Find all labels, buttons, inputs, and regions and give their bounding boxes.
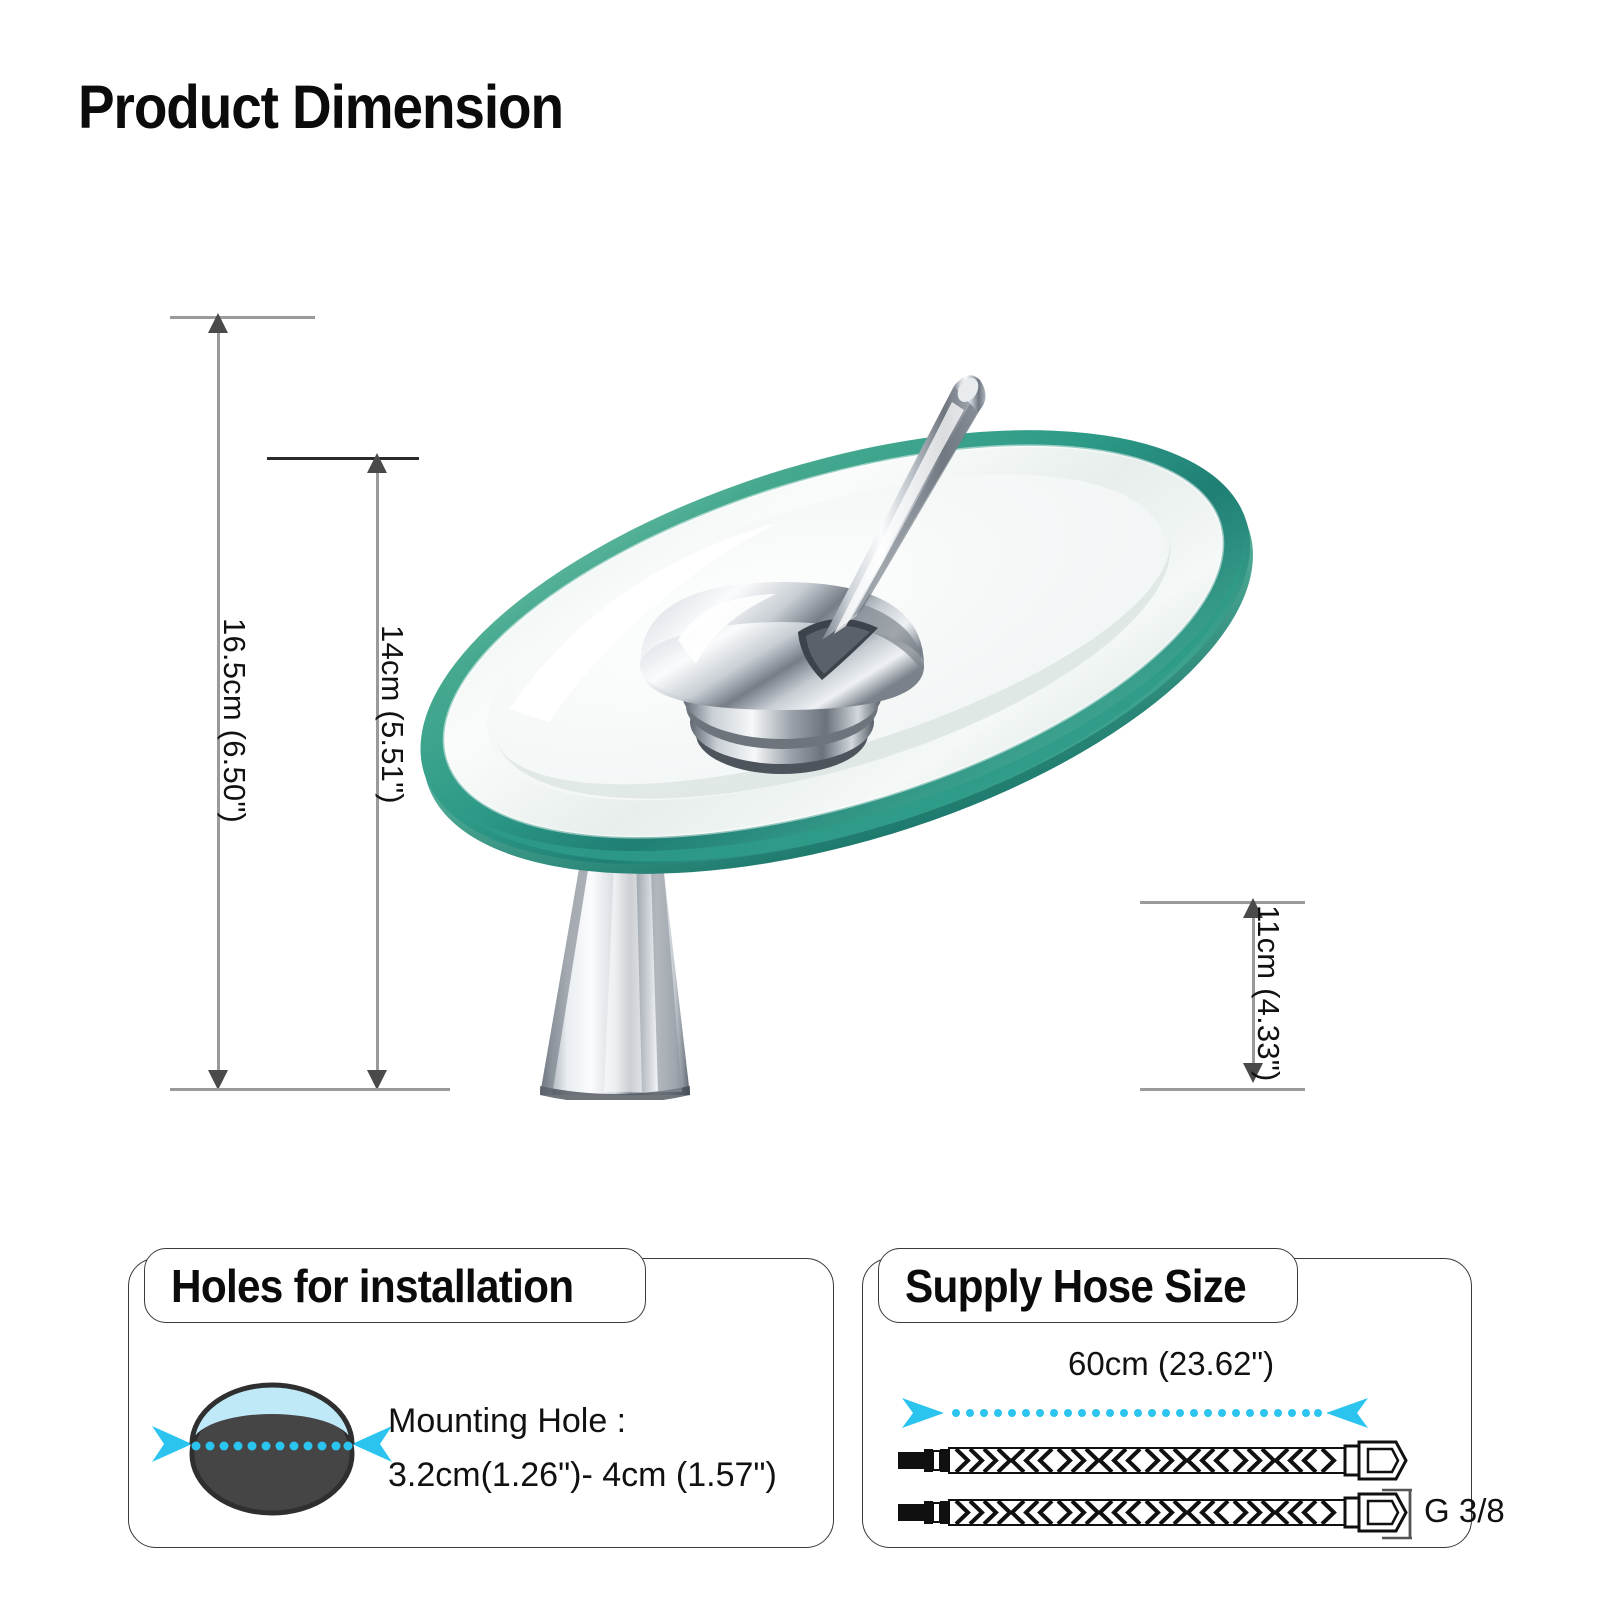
mounting-hole-text-line1: Mounting Hole : bbox=[388, 1397, 626, 1445]
panel-hose-header-label: Supply Hose Size bbox=[905, 1259, 1246, 1313]
dimension-label-diameter: 11cm (4.33") bbox=[1250, 905, 1286, 1082]
hose-length-label: 60cm (23.62") bbox=[1068, 1345, 1274, 1383]
product-image bbox=[390, 300, 1270, 1100]
dimension-label-overall-height: 16.5cm (6.50") bbox=[216, 618, 252, 823]
panel-holes-header-label: Holes for installation bbox=[171, 1259, 573, 1313]
panel-hose-header: Supply Hose Size bbox=[878, 1248, 1298, 1323]
infographic-root: Product Dimension bbox=[0, 0, 1600, 1600]
dimension-extension-top-glass bbox=[267, 457, 419, 460]
braided-hose-icon bbox=[898, 1492, 1410, 1534]
page-title: Product Dimension bbox=[78, 72, 563, 142]
thread-size-label: G 3/8 bbox=[1424, 1492, 1505, 1530]
mounting-hole-icon bbox=[146, 1382, 398, 1532]
dimension-extension-bottom-diameter bbox=[1140, 1088, 1305, 1091]
dimension-arrow-icon bbox=[208, 1070, 228, 1090]
braided-hose-icon bbox=[898, 1440, 1410, 1482]
mounting-hole-text-line2: 3.2cm(1.26")- 4cm (1.57") bbox=[388, 1451, 777, 1499]
dimension-arrow-icon bbox=[367, 453, 387, 473]
dimension-baseline bbox=[170, 1088, 450, 1091]
hose-length-dimension-arrow bbox=[900, 1392, 1370, 1434]
dimension-extension-top-diameter bbox=[1140, 901, 1305, 904]
dimension-arrow-icon bbox=[367, 1070, 387, 1090]
panel-holes-header: Holes for installation bbox=[144, 1248, 646, 1323]
dimension-label-glass-height: 14cm (5.51") bbox=[374, 625, 410, 804]
dimension-arrow-icon bbox=[208, 313, 228, 333]
dimension-extension-top-overall bbox=[170, 316, 315, 319]
thread-size-bracket bbox=[1382, 1488, 1422, 1540]
